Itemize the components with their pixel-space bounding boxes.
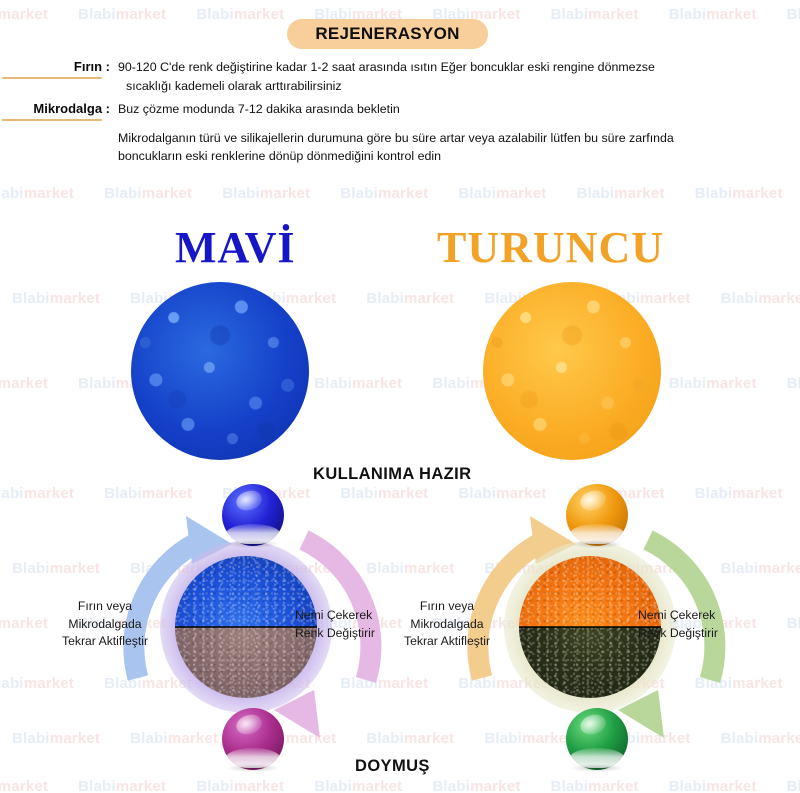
instruction-line: sıcaklığı kademeli olarak arttırabilirsi…: [118, 77, 760, 96]
instruction-body-oven: 90-120 C'de renk değiştirine kadar 1-2 s…: [118, 58, 800, 95]
watermark-row: BlabimarketBlabimarketBlabimarketBlabima…: [0, 778, 800, 793]
label-line: Nemi Çekerek: [638, 607, 718, 625]
sphere-highlight: [233, 712, 264, 738]
instructions-block: Fırın : 90-120 C'de renk değiştirine kad…: [0, 58, 800, 166]
stage-heading-ready: KULLANIMA HAZIR: [313, 465, 471, 484]
instruction-label-oven: Fırın :: [74, 58, 110, 75]
instruction-line: Buz çözme modunda 7-12 dakika arasında b…: [118, 102, 400, 116]
label-line: Mikrodalgada: [62, 616, 148, 634]
label-line: Tekrar Aktifleştir: [404, 633, 490, 651]
watermark-text: Blabimarket: [0, 778, 48, 793]
instruction-row-microwave: Mikrodalga : Buz çözme modunda 7-12 daki…: [0, 100, 800, 119]
watermark-text: Blabimarket: [787, 615, 800, 632]
sphere-highlight: [233, 488, 264, 514]
sphere-body: [566, 708, 628, 770]
watermark-text: Blabimarket: [0, 375, 48, 392]
product-title-blue: MAVİ: [175, 222, 296, 273]
sphere-orange-saturated: [566, 708, 628, 770]
instruction-label-wrap: Mikrodalga :: [0, 100, 118, 118]
instruction-body-microwave: Buz çözme modunda 7-12 dakika arasında b…: [118, 100, 800, 119]
instruction-line: 90-120 C'de renk değiştirine kadar 1-2 s…: [118, 60, 655, 74]
sphere-highlight: [577, 488, 608, 514]
sphere-orange-dry: [566, 484, 628, 546]
watermark-text: Blabimarket: [787, 375, 800, 392]
watermark-text: Blabimarket: [458, 185, 546, 202]
stage-heading-saturated: DOYMUŞ: [355, 757, 430, 776]
label-line: Renk Değiştirir: [295, 625, 375, 643]
watermark-row: BlabimarketBlabimarketBlabimarketBlabima…: [0, 375, 800, 392]
watermark-text: Blabimarket: [550, 778, 638, 793]
watermark-text: Blabimarket: [314, 778, 402, 793]
watermark-text: Blabimarket: [12, 560, 100, 577]
label-line: Nemi Çekerek: [295, 607, 375, 625]
watermark-text: Blabimarket: [340, 185, 428, 202]
sphere-body: [222, 484, 284, 546]
watermark-text: Blabimarket: [0, 185, 74, 202]
cycle-label-blue-absorb: Nemi Çekerek Renk Değiştirir: [295, 607, 375, 642]
watermark-text: Blabimarket: [12, 290, 100, 307]
watermark-text: Blabimarket: [366, 290, 454, 307]
label-underline-icon: [2, 119, 102, 121]
watermark-row: BlabimarketBlabimarketBlabimarketBlabima…: [12, 290, 800, 307]
watermark-text: Blabimarket: [669, 375, 757, 392]
watermark-text: Blabimarket: [0, 615, 48, 632]
sphere-body: [566, 484, 628, 546]
label-line: Fırın veya: [62, 598, 148, 616]
instruction-label-wrap: Fırın :: [0, 58, 118, 76]
watermark-text: Blabimarket: [78, 6, 166, 23]
watermark-text: Blabimarket: [695, 185, 783, 202]
watermark-row: BlabimarketBlabimarketBlabimarketBlabima…: [0, 185, 800, 202]
header-badge: REJENERASYON: [287, 19, 488, 49]
cycle-label-blue-reactivate: Fırın veya Mikrodalgada Tekrar Aktifleşt…: [62, 598, 148, 651]
watermark-text: Blabimarket: [550, 6, 638, 23]
sphere-highlight: [577, 712, 608, 738]
sphere-blue-dry: [222, 484, 284, 546]
cycle-label-orange-absorb: Nemi Çekerek Renk Değiştirir: [638, 607, 718, 642]
watermark-text: Blabimarket: [196, 6, 284, 23]
watermark-text: Blabimarket: [222, 185, 310, 202]
bead-photo-orange: [483, 282, 661, 460]
poster-root: BlabimarketBlabimarketBlabimarketBlabima…: [0, 0, 800, 793]
instruction-row-note: Mikrodalganın türü ve silikajellerin dur…: [0, 129, 800, 166]
watermark-text: Blabimarket: [669, 6, 757, 23]
instruction-line: boncukların eski renklerine dönüp dönmed…: [118, 147, 760, 166]
watermark-text: Blabimarket: [669, 778, 757, 793]
watermark-text: Blabimarket: [576, 185, 664, 202]
label-line: Mikrodalgada: [404, 616, 490, 634]
watermark-text: Blabimarket: [104, 185, 192, 202]
instruction-row-oven: Fırın : 90-120 C'de renk değiştirine kad…: [0, 58, 800, 95]
watermark-text: Blabimarket: [787, 6, 800, 23]
watermark-text: Blabimarket: [432, 778, 520, 793]
sphere-body: [222, 708, 284, 770]
watermark-text: Blabimarket: [0, 675, 74, 692]
instruction-label-microwave: Mikrodalga :: [33, 100, 110, 117]
watermark-text: Blabimarket: [196, 778, 284, 793]
watermark-text: Blabimarket: [0, 6, 48, 23]
label-underline-icon: [2, 77, 102, 79]
watermark-text: Blabimarket: [12, 730, 100, 747]
watermark-text: Blabimarket: [721, 290, 800, 307]
watermark-text: Blabimarket: [314, 375, 402, 392]
watermark-text: Blabimarket: [78, 778, 166, 793]
bead-photo-blue: [131, 282, 309, 460]
label-line: Renk Değiştirir: [638, 625, 718, 643]
instruction-body-note: Mikrodalganın türü ve silikajellerin dur…: [118, 129, 800, 166]
instruction-line: Mikrodalganın türü ve silikajellerin dur…: [118, 131, 674, 145]
watermark-text: Blabimarket: [787, 778, 800, 793]
page-title: REJENERASYON: [315, 24, 459, 44]
label-line: Tekrar Aktifleştir: [62, 633, 148, 651]
watermark-text: Blabimarket: [0, 485, 74, 502]
cycle-label-orange-reactivate: Fırın veya Mikrodalgada Tekrar Aktifleşt…: [404, 598, 490, 651]
product-title-orange: TURUNCU: [437, 222, 664, 273]
sphere-blue-saturated: [222, 708, 284, 770]
label-line: Fırın veya: [404, 598, 490, 616]
